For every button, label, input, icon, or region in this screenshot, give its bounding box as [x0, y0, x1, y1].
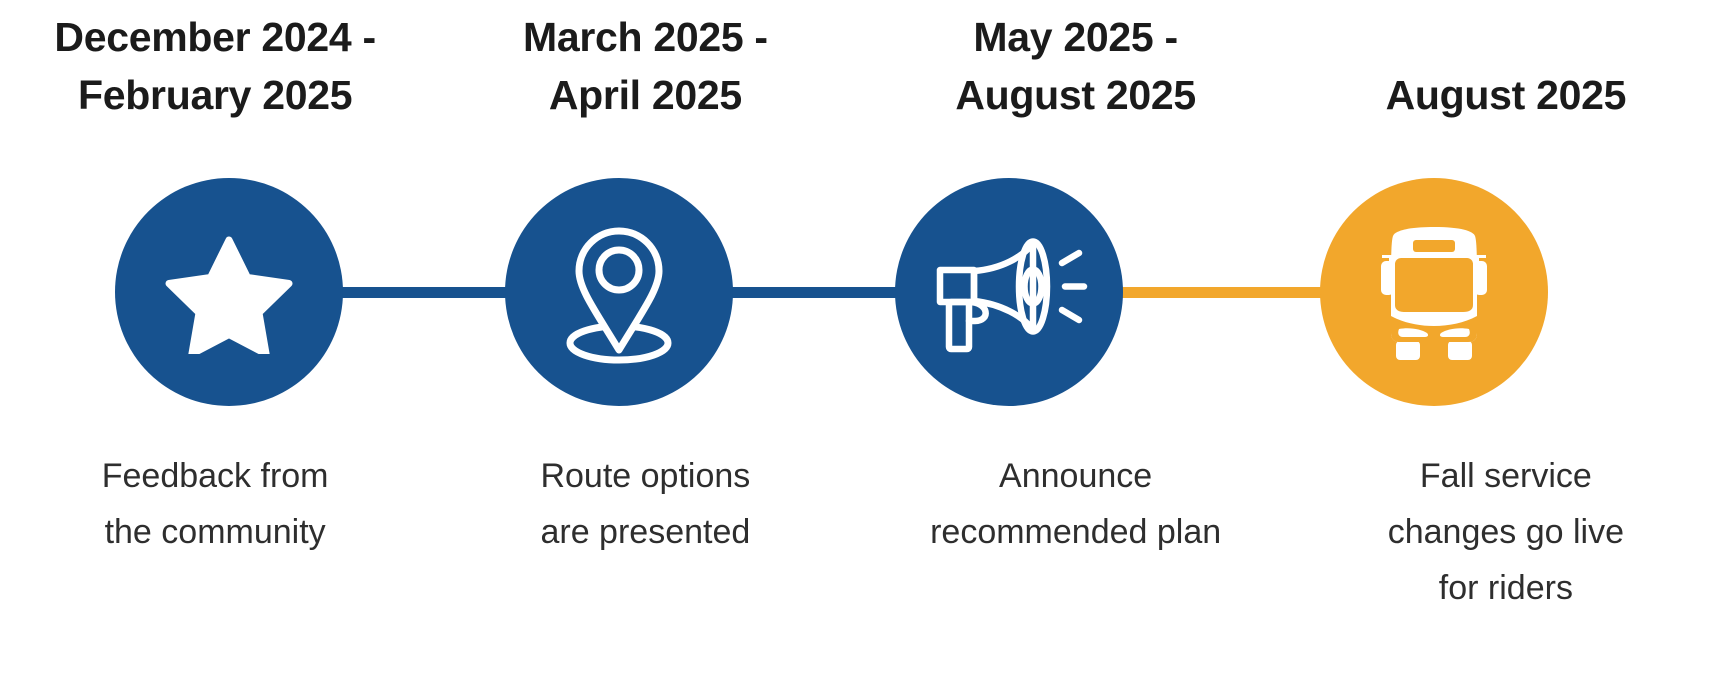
step-1-node[interactable] — [115, 178, 343, 406]
step-3-heading: May 2025 - August 2025 — [861, 0, 1291, 140]
step-4-caption: Fall service changes go live for riders — [1291, 448, 1721, 616]
step-1-heading-line-2: February 2025 — [78, 66, 352, 124]
step-2-caption-line-1: Route options — [540, 448, 750, 504]
step-3-caption-line-2: recommended plan — [930, 504, 1221, 560]
step-1-caption-line-1: Feedback from — [102, 448, 329, 504]
step-3-caption-line-1: Announce — [999, 448, 1152, 504]
timeline-nodes-row — [0, 178, 1721, 408]
step-3-caption: Announce recommended plan — [861, 448, 1291, 616]
star-icon — [164, 230, 294, 354]
step-4-caption-line-2: changes go live — [1388, 504, 1624, 560]
step-2-heading-line-1: March 2025 - — [523, 8, 768, 66]
step-2-caption: Route options are presented — [430, 448, 860, 616]
step-3-heading-line-1: May 2025 - — [973, 8, 1177, 66]
step-1-caption: Feedback from the community — [0, 448, 430, 616]
step-4-node[interactable] — [1320, 178, 1548, 406]
timeline-infographic: December 2024 - February 2025 March 2025… — [0, 0, 1721, 673]
map-pin-icon — [544, 217, 694, 367]
connector-1-2 — [325, 287, 515, 298]
step-4-heading-line-2: August 2025 — [1386, 66, 1627, 124]
step-1-heading: December 2024 - February 2025 — [0, 0, 430, 140]
step-4-caption-line-1: Fall service — [1420, 448, 1592, 504]
step-1-heading-line-1: December 2024 - — [54, 8, 375, 66]
step-4-heading: August 2025 — [1291, 0, 1721, 140]
timeline-headings-row: December 2024 - February 2025 March 2025… — [0, 0, 1721, 140]
step-2-node[interactable] — [505, 178, 733, 406]
step-1-caption-line-2: the community — [105, 504, 326, 560]
step-3-node[interactable] — [895, 178, 1123, 406]
step-3-heading-line-2: August 2025 — [955, 66, 1196, 124]
step-2-heading: March 2025 - April 2025 — [430, 0, 860, 140]
step-2-caption-line-2: are presented — [540, 504, 750, 560]
timeline-captions-row: Feedback from the community Route option… — [0, 448, 1721, 616]
megaphone-icon — [929, 222, 1089, 362]
step-2-heading-line-2: April 2025 — [549, 66, 742, 124]
step-4-caption-line-3: for riders — [1439, 560, 1573, 616]
bus-icon — [1359, 217, 1509, 367]
